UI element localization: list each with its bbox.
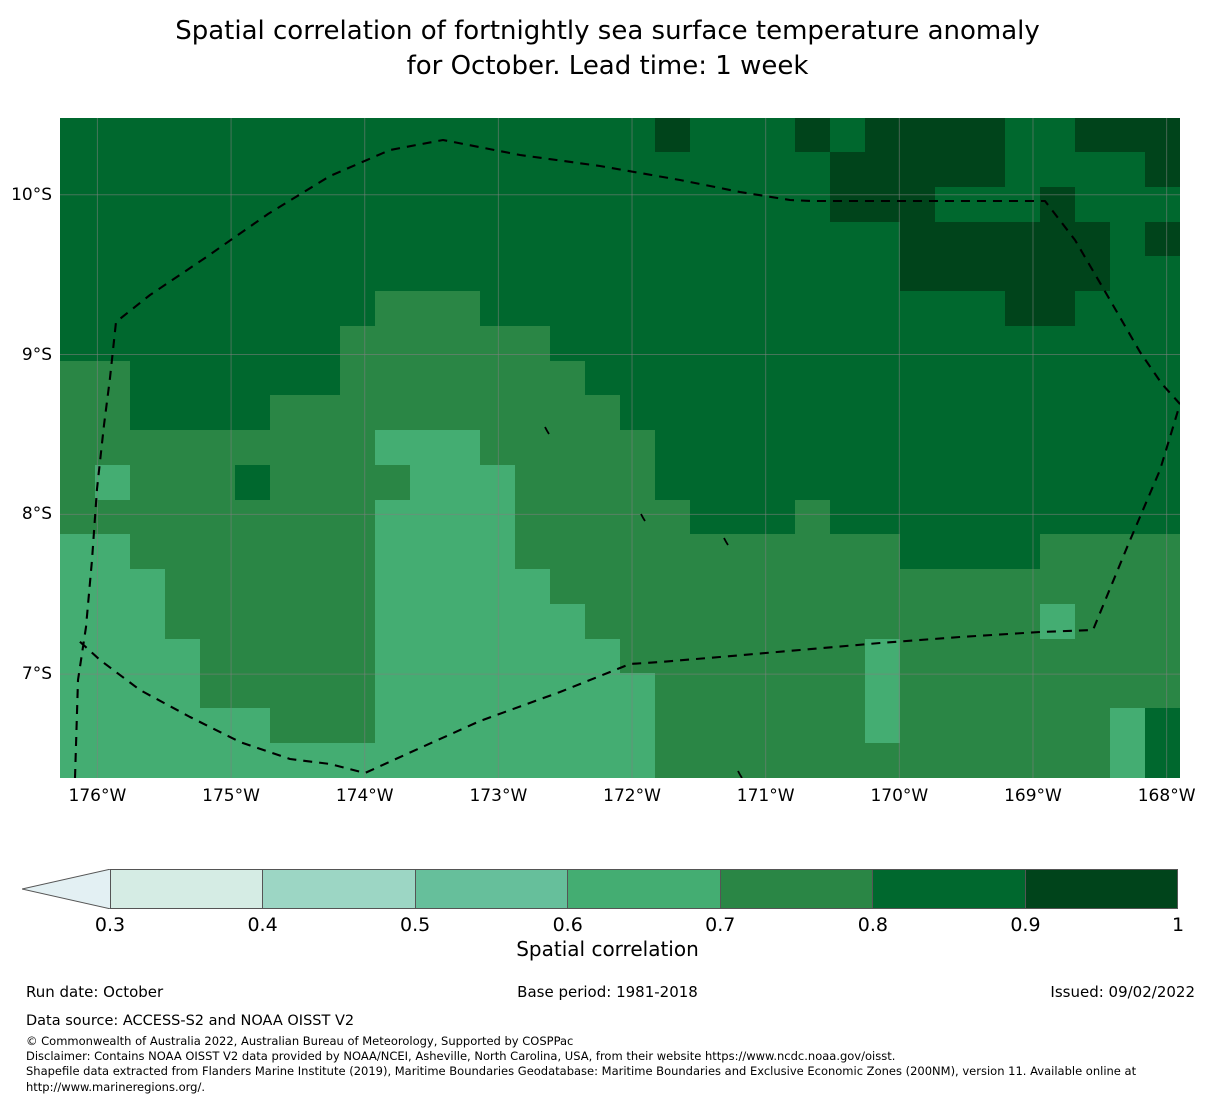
- heatmap-cell: [900, 361, 936, 397]
- heatmap-cell: [970, 256, 1006, 292]
- heatmap-cell: [60, 604, 96, 640]
- heatmap-cell: [200, 569, 236, 605]
- heatmap-cell: [935, 639, 971, 675]
- heatmap-cell: [445, 395, 481, 431]
- heatmap-cell: [445, 569, 481, 605]
- heatmap-cell: [690, 639, 726, 675]
- heatmap-cell: [305, 465, 341, 501]
- y-tick-label: 10°S: [11, 185, 52, 205]
- heatmap-cell: [95, 326, 131, 362]
- heatmap-cell: [305, 256, 341, 292]
- colorbar-tick-label: 0.9: [1010, 914, 1040, 936]
- heatmap-cell: [235, 673, 271, 709]
- heatmap-cell: [445, 256, 481, 292]
- heatmap-cell: [830, 534, 866, 570]
- heatmap-cell: [200, 534, 236, 570]
- heatmap-cell: [725, 187, 761, 223]
- heatmap-cell: [515, 639, 551, 675]
- heatmap-cell: [270, 152, 306, 188]
- heatmap-cell: [200, 222, 236, 258]
- heatmap-cell: [130, 639, 166, 675]
- heatmap-cell: [725, 430, 761, 466]
- heatmap-cell: [550, 639, 586, 675]
- heatmap-cell: [165, 430, 201, 466]
- heatmap-cell: [410, 743, 446, 778]
- heatmap-cell: [130, 743, 166, 778]
- colorbar-bin[interactable]: [568, 870, 720, 908]
- heatmap-cell: [795, 326, 831, 362]
- heatmap-cell: [1075, 187, 1111, 223]
- heatmap-cell: [1005, 500, 1041, 536]
- heatmap-cell: [515, 465, 551, 501]
- heatmap-cell: [130, 118, 166, 153]
- heatmap-cell: [1005, 222, 1041, 258]
- heatmap-cell: [900, 152, 936, 188]
- heatmap-cell: [95, 361, 131, 397]
- heatmap-cell: [480, 326, 516, 362]
- heatmap-cell: [480, 673, 516, 709]
- heatmap-cell: [1040, 673, 1076, 709]
- heatmap-cell: [1040, 604, 1076, 640]
- heatmap-cell: [1005, 326, 1041, 362]
- issued-date-text: Issued: 09/02/2022: [1050, 983, 1195, 1001]
- heatmap-cell: [935, 604, 971, 640]
- heatmap-cell: [305, 604, 341, 640]
- heatmap-cell: [830, 604, 866, 640]
- heatmap-cell: [585, 326, 621, 362]
- heatmap-cell: [830, 361, 866, 397]
- heatmap-cell: [95, 222, 131, 258]
- heatmap-cell: [550, 326, 586, 362]
- heatmap-cell: [130, 708, 166, 744]
- x-tick-label: 172°W: [603, 786, 661, 806]
- heatmap-cell: [1075, 395, 1111, 431]
- heatmap-cell: [725, 569, 761, 605]
- heatmap-cell: [795, 222, 831, 258]
- heatmap-cell: [235, 361, 271, 397]
- heatmap-cell: [130, 326, 166, 362]
- heatmap-cell: [235, 118, 271, 153]
- heatmap-cell: [375, 708, 411, 744]
- heatmap-cell: [655, 395, 691, 431]
- heatmap-cell: [1110, 500, 1146, 536]
- heatmap-cell: [1110, 118, 1146, 153]
- heatmap-cell: [830, 291, 866, 327]
- heatmap-cell: [375, 534, 411, 570]
- heatmap-cell: [480, 152, 516, 188]
- heatmap-cell: [305, 361, 341, 397]
- heatmap-cell: [95, 604, 131, 640]
- heatmap-cell: [375, 673, 411, 709]
- heatmap-cell: [970, 361, 1006, 397]
- heatmap-cell: [130, 256, 166, 292]
- heatmap-cell: [130, 534, 166, 570]
- heatmap-cell: [795, 534, 831, 570]
- heatmap-cell: [305, 187, 341, 223]
- heatmap-cell: [1110, 152, 1146, 188]
- heatmap-cell: [130, 395, 166, 431]
- heatmap-cell: [1145, 118, 1181, 153]
- heatmap-cell: [445, 604, 481, 640]
- heatmap-cell: [795, 152, 831, 188]
- heatmap-cell: [60, 534, 96, 570]
- base-period-text: Base period: 1981-2018: [517, 983, 698, 1001]
- heatmap-cell: [620, 500, 656, 536]
- heatmap-cell: [690, 395, 726, 431]
- heatmap-cell: [445, 326, 481, 362]
- heatmap-cell: [795, 187, 831, 223]
- heatmap-cell: [1005, 187, 1041, 223]
- heatmap-cell: [130, 291, 166, 327]
- heatmap-cell: [690, 708, 726, 744]
- heatmap-cell: [165, 222, 201, 258]
- heatmap-cell: [515, 118, 551, 153]
- heatmap-cell: [60, 256, 96, 292]
- heatmap-cell: [865, 604, 901, 640]
- heatmap-cell: [550, 187, 586, 223]
- heatmap-cell: [760, 604, 796, 640]
- heatmap-cell: [865, 639, 901, 675]
- heatmap-cell: [305, 743, 341, 778]
- heatmap-cell: [165, 187, 201, 223]
- heatmap-cell: [830, 326, 866, 362]
- heatmap-cell: [445, 222, 481, 258]
- heatmap-cell: [340, 673, 376, 709]
- heatmap-cell: [130, 604, 166, 640]
- heatmap-cell: [95, 743, 131, 778]
- heatmap-cell: [305, 639, 341, 675]
- heatmap-cell: [620, 152, 656, 188]
- heatmap-cell: [585, 673, 621, 709]
- heatmap-cell: [900, 604, 936, 640]
- heatmap-cell: [725, 326, 761, 362]
- y-tick-label: 9°S: [22, 345, 52, 365]
- heatmap-cell: [865, 187, 901, 223]
- heatmap-cell: [1110, 361, 1146, 397]
- colorbar-extend-arrow-low: [22, 869, 111, 909]
- heatmap-cell: [795, 604, 831, 640]
- heatmap-cell: [235, 534, 271, 570]
- heatmap-cell: [200, 326, 236, 362]
- heatmap-cell: [970, 118, 1006, 153]
- heatmap-cell: [1145, 256, 1181, 292]
- heatmap-cell: [865, 326, 901, 362]
- heatmap-cell: [270, 569, 306, 605]
- heatmap-cell: [515, 361, 551, 397]
- heatmap-cell: [270, 430, 306, 466]
- heatmap-cell: [95, 291, 131, 327]
- heatmap-cell: [830, 187, 866, 223]
- heatmap-cell: [340, 569, 376, 605]
- heatmap-cell: [620, 395, 656, 431]
- heatmap-cell: [340, 187, 376, 223]
- heatmap-cell: [830, 256, 866, 292]
- heatmap-cell: [865, 500, 901, 536]
- heatmap-cell: [1145, 673, 1181, 709]
- heatmap-cell: [340, 152, 376, 188]
- heatmap-cell: [445, 743, 481, 778]
- heatmap-cell: [935, 395, 971, 431]
- heatmap-cell: [1040, 152, 1076, 188]
- heatmap-cell: [865, 395, 901, 431]
- heatmap-cell: [970, 291, 1006, 327]
- heatmap-cell: [865, 152, 901, 188]
- heatmap-cell: [1040, 118, 1076, 153]
- metadata-row: Run date: October Base period: 1981-2018…: [0, 983, 1215, 1005]
- heatmap-cell: [585, 534, 621, 570]
- colorbar-bins[interactable]: [110, 869, 1178, 909]
- heatmap-cell: [1110, 639, 1146, 675]
- heatmap-cell: [1005, 673, 1041, 709]
- heatmap-cell: [1110, 256, 1146, 292]
- heatmap-cell: [270, 326, 306, 362]
- heatmap-cell: [1040, 430, 1076, 466]
- heatmap-cell: [445, 187, 481, 223]
- heatmap-cell: [620, 118, 656, 153]
- heatmap-cell: [655, 256, 691, 292]
- heatmap-cell: [445, 465, 481, 501]
- heatmap-cell: [340, 361, 376, 397]
- colorbar-tick-label: 0.5: [400, 914, 430, 936]
- heatmap-cell: [725, 222, 761, 258]
- x-tick-label: 175°W: [202, 786, 260, 806]
- heatmap-cell: [445, 291, 481, 327]
- heatmap-cell: [970, 673, 1006, 709]
- figure-root: Spatial correlation of fortnightly sea s…: [0, 0, 1215, 1095]
- heatmap-cell: [340, 222, 376, 258]
- heatmap-cell: [935, 673, 971, 709]
- heatmap-cell: [235, 291, 271, 327]
- y-tick-label: 8°S: [22, 504, 52, 524]
- heatmap-cell: [410, 604, 446, 640]
- heatmap-cell: [375, 256, 411, 292]
- heatmap-cell: [480, 604, 516, 640]
- heatmap-cell: [585, 430, 621, 466]
- heatmap-cell: [340, 708, 376, 744]
- heatmap-cell: [95, 673, 131, 709]
- heatmap-cell: [270, 673, 306, 709]
- heatmap-cell: [1145, 395, 1181, 431]
- heatmap-cell: [795, 361, 831, 397]
- heatmap-cell: [865, 569, 901, 605]
- heatmap-cell: [1040, 395, 1076, 431]
- copyright-text: © Commonwealth of Australia 2022, Austra…: [26, 1034, 1206, 1049]
- colorbar-bin[interactable]: [1026, 870, 1177, 908]
- heatmap-cell: [1075, 291, 1111, 327]
- heatmap-cell: [620, 639, 656, 675]
- heatmap-cell: [760, 569, 796, 605]
- heatmap-cell: [375, 500, 411, 536]
- heatmap-cell: [95, 430, 131, 466]
- heatmap-cell: [550, 152, 586, 188]
- heatmap-cell: [60, 569, 96, 605]
- heatmap-cell: [480, 569, 516, 605]
- heatmap-cell: [480, 361, 516, 397]
- heatmap-cell: [620, 743, 656, 778]
- colorbar-bin[interactable]: [111, 870, 263, 908]
- heatmap-cell: [550, 395, 586, 431]
- heatmap-cell: [655, 708, 691, 744]
- heatmap-cell: [60, 361, 96, 397]
- heatmap-cell: [235, 326, 271, 362]
- heatmap-cell: [1005, 256, 1041, 292]
- heatmap-cell: [655, 534, 691, 570]
- heatmap-cell: [95, 118, 131, 153]
- heatmap-cell: [1040, 500, 1076, 536]
- heatmap-cell: [340, 500, 376, 536]
- heatmap-cell: [900, 395, 936, 431]
- x-tick-label: 173°W: [469, 786, 527, 806]
- heatmap-cell: [900, 256, 936, 292]
- heatmap-cell: [1075, 361, 1111, 397]
- heatmap-cell: [200, 118, 236, 153]
- heatmap-cell: [585, 569, 621, 605]
- heatmap-cell: [200, 639, 236, 675]
- heatmap-cell: [375, 118, 411, 153]
- heatmap-cell: [305, 395, 341, 431]
- heatmap-cell: [270, 604, 306, 640]
- heatmap-cell: [200, 361, 236, 397]
- heatmap-cell: [760, 395, 796, 431]
- heatmap-cell: [1110, 222, 1146, 258]
- heatmap-cell: [1040, 569, 1076, 605]
- heatmap-cell: [935, 118, 971, 153]
- heatmap-cell: [515, 291, 551, 327]
- colorbar-bin[interactable]: [263, 870, 415, 908]
- colorbar-tick-label: 0.4: [247, 914, 277, 936]
- heatmap-cell: [60, 673, 96, 709]
- heatmap-cell: [830, 569, 866, 605]
- heatmap-cell: [725, 118, 761, 153]
- heatmap-cell: [935, 430, 971, 466]
- heatmap-cell: [550, 743, 586, 778]
- heatmap-cell: [865, 534, 901, 570]
- heatmap-cell: [725, 152, 761, 188]
- heatmap-cell: [1145, 465, 1181, 501]
- heatmap-cell: [1145, 534, 1181, 570]
- heatmap-cell: [1110, 430, 1146, 466]
- heatmap-cell: [1110, 569, 1146, 605]
- heatmap-cell: [550, 222, 586, 258]
- heatmap-cell: [690, 534, 726, 570]
- heatmap-cell: [60, 465, 96, 501]
- heatmap-cell: [60, 291, 96, 327]
- heatmap-cell: [760, 465, 796, 501]
- heatmap-cell: [165, 361, 201, 397]
- heatmap-cell: [445, 500, 481, 536]
- heatmap-cell: [235, 256, 271, 292]
- heatmap-cell: [1040, 291, 1076, 327]
- heatmap-cell: [1075, 465, 1111, 501]
- heatmap-cell: [410, 118, 446, 153]
- heatmap-cell: [60, 708, 96, 744]
- heatmap-cell: [340, 604, 376, 640]
- heatmap-cell: [1110, 326, 1146, 362]
- heatmap-cell: [1005, 291, 1041, 327]
- heatmap-cell: [760, 639, 796, 675]
- heatmap-cell: [935, 534, 971, 570]
- heatmap-cell: [830, 222, 866, 258]
- colorbar[interactable]: 0.30.40.50.60.70.80.91 Spatial correlati…: [0, 866, 1215, 966]
- heatmap-cell: [690, 673, 726, 709]
- heatmap-cell: [970, 395, 1006, 431]
- heatmap-cell: [270, 361, 306, 397]
- heatmap-cell: [1145, 152, 1181, 188]
- heatmap-cell: [725, 361, 761, 397]
- heatmap-cell: [375, 604, 411, 640]
- heatmap-cell: [970, 152, 1006, 188]
- heatmap-cell: [655, 743, 691, 778]
- colorbar-bin[interactable]: [721, 870, 873, 908]
- x-tick-label: 169°W: [1004, 786, 1062, 806]
- heatmap-cell: [970, 430, 1006, 466]
- map-plot-area[interactable]: [60, 118, 1180, 778]
- heatmap-cell: [235, 708, 271, 744]
- heatmap-cell: [865, 430, 901, 466]
- heatmap-cell: [725, 534, 761, 570]
- heatmap-cell: [1075, 326, 1111, 362]
- heatmap-cell: [935, 326, 971, 362]
- x-tick-label: 170°W: [870, 786, 928, 806]
- heatmap-cell: [1005, 465, 1041, 501]
- heatmap-cell: [550, 569, 586, 605]
- heatmap-cell: [60, 639, 96, 675]
- colorbar-bin[interactable]: [873, 870, 1025, 908]
- heatmap-cell: [515, 222, 551, 258]
- heatmap-cell: [865, 673, 901, 709]
- heatmap-cell: [305, 326, 341, 362]
- heatmap-cell: [1005, 395, 1041, 431]
- heatmap-cell: [1145, 569, 1181, 605]
- heatmap-cell: [375, 743, 411, 778]
- heatmap-cell: [270, 465, 306, 501]
- heatmap-cell: [445, 430, 481, 466]
- heatmap-cell: [1145, 326, 1181, 362]
- heatmap-cell: [585, 500, 621, 536]
- heatmap-cell: [235, 430, 271, 466]
- heatmap-cell: [410, 187, 446, 223]
- heatmap-cell: [165, 534, 201, 570]
- heatmap-cell: [200, 430, 236, 466]
- heatmap-cell: [305, 291, 341, 327]
- colorbar-bin[interactable]: [416, 870, 568, 908]
- heatmap-cell: [795, 430, 831, 466]
- heatmap-cell: [830, 500, 866, 536]
- heatmap-cell: [550, 361, 586, 397]
- shapefile-text-1: Shapefile data extracted from Flanders M…: [26, 1064, 1206, 1079]
- x-tick-label: 174°W: [336, 786, 394, 806]
- heatmap-cell: [620, 604, 656, 640]
- heatmap-cell: [95, 187, 131, 223]
- heatmap-cell: [900, 534, 936, 570]
- heatmap-cell: [760, 743, 796, 778]
- heatmap-cell: [620, 326, 656, 362]
- heatmap-cell: [270, 118, 306, 153]
- disclaimer-text: Disclaimer: Contains NOAA OISST V2 data …: [26, 1049, 1206, 1064]
- heatmap-cell: [375, 639, 411, 675]
- heatmap-cell: [165, 118, 201, 153]
- heatmap-cell: [725, 500, 761, 536]
- heatmap-cell: [480, 500, 516, 536]
- heatmap-cell: [235, 743, 271, 778]
- heatmap-cell: [865, 465, 901, 501]
- heatmap-cell: [1110, 743, 1146, 778]
- heatmap-cell: [760, 430, 796, 466]
- heatmap-cell: [1110, 673, 1146, 709]
- heatmap-cell: [480, 430, 516, 466]
- heatmap-cell: [515, 326, 551, 362]
- heatmap-cell: [1005, 534, 1041, 570]
